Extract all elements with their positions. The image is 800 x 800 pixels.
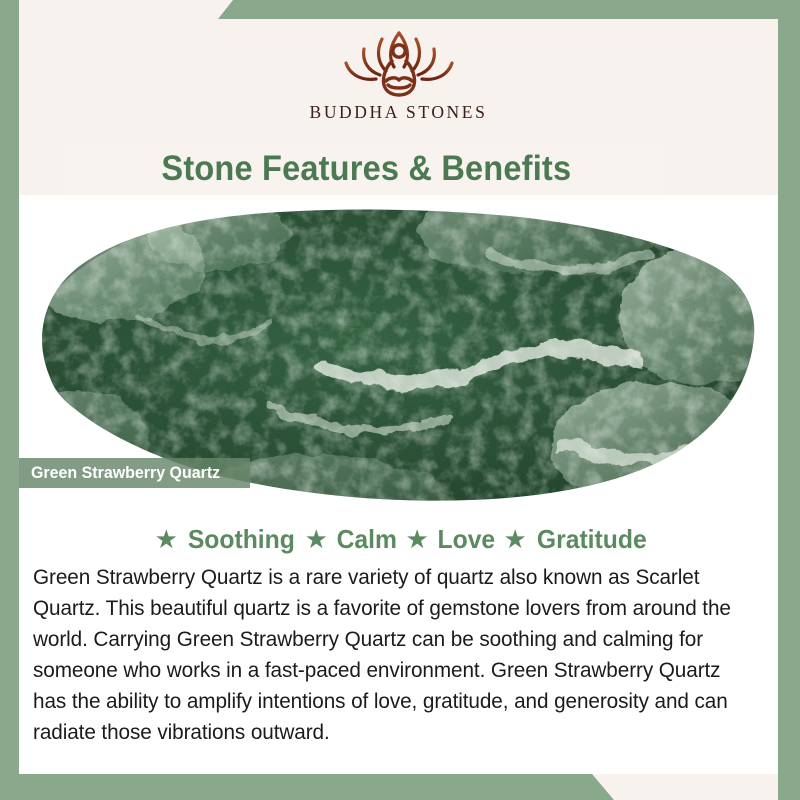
lotus-meditation-icon bbox=[324, 25, 474, 101]
content-panel: ★ Soothing ★ Calm ★ Love ★ Gratitude Gre… bbox=[19, 512, 778, 774]
title-banner: Stone Features & Benefits bbox=[66, 143, 666, 195]
photo-caption-text: Green Strawberry Quartz bbox=[31, 463, 220, 483]
frame-top-band bbox=[0, 0, 800, 19]
feature-item-love: ★ Love bbox=[398, 524, 496, 555]
photo-caption: Green Strawberry Quartz bbox=[19, 458, 250, 488]
stone-photo: Green Strawberry Quartz bbox=[19, 195, 778, 512]
feature-label: Gratitude bbox=[537, 524, 647, 555]
frame-left-band bbox=[0, 0, 19, 800]
poster: BUDDHA STONES Stone Features & Benefits bbox=[0, 0, 800, 800]
brand-header: BUDDHA STONES bbox=[19, 19, 778, 143]
brand-name: BUDDHA STONES bbox=[310, 102, 488, 123]
feature-list: ★ Soothing ★ Calm ★ Love ★ Gratitude bbox=[19, 524, 778, 555]
star-icon: ★ bbox=[405, 526, 428, 552]
star-icon: ★ bbox=[155, 526, 178, 552]
feature-item-soothing: ★ Soothing bbox=[148, 524, 298, 555]
star-icon: ★ bbox=[305, 526, 328, 552]
star-icon: ★ bbox=[503, 526, 526, 552]
feature-label: Soothing bbox=[188, 524, 295, 555]
feature-item-calm: ★ Calm bbox=[298, 524, 399, 555]
feature-label: Calm bbox=[336, 524, 396, 555]
feature-item-gratitude: ★ Gratitude bbox=[496, 524, 649, 555]
frame-bottom-band bbox=[0, 774, 800, 800]
stone-description: Green Strawberry Quartz is a rare variet… bbox=[33, 562, 736, 748]
frame-right-band bbox=[778, 0, 800, 800]
feature-label: Love bbox=[437, 524, 495, 555]
page-title: Stone Features & Benefits bbox=[161, 149, 571, 189]
